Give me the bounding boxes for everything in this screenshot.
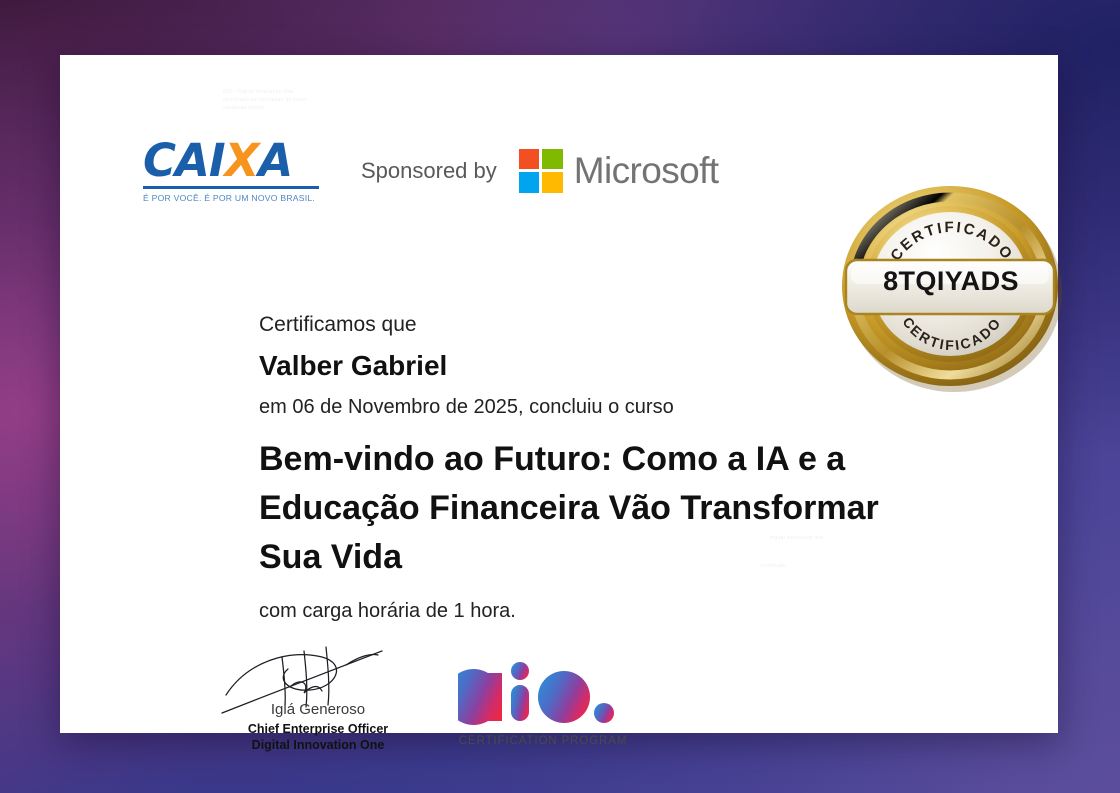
caixa-tagline: É POR VOCÊ. É POR UM NOVO BRASIL. [143, 193, 323, 203]
signature-block: Iglá Generoso Chief Enterprise Officer D… [218, 643, 418, 754]
recipient-name: Valber Gabriel [259, 350, 899, 382]
course-title: Bem-vindo ao Futuro: Como a IA e a Educa… [259, 435, 879, 582]
microsoft-square-yellow [542, 172, 563, 193]
watermark-text-top: DIO - Digital Innovation One certificado… [223, 89, 307, 112]
dio-logo-block: CERTIFICATION PROGRAM [453, 659, 633, 747]
signer-title: Chief Enterprise Officer [218, 721, 418, 737]
microsoft-logo: Microsoft [519, 149, 719, 193]
microsoft-square-red [519, 149, 540, 170]
seal-code: 8TQIYADS [826, 266, 1076, 297]
caixa-wordmark-part2: A [258, 134, 292, 187]
microsoft-squares-icon [519, 149, 563, 193]
caixa-wordmark: CAIXA [143, 138, 323, 183]
workload-line: com carga horária de 1 hora. [259, 600, 899, 623]
certificate-body: Certificamos que Valber Gabriel em 06 de… [259, 313, 899, 623]
microsoft-square-green [542, 149, 563, 170]
certify-line: Certificamos que [259, 313, 899, 337]
certificate-card: DIO - Digital Innovation One certificado… [60, 55, 1058, 733]
microsoft-square-blue [519, 172, 540, 193]
certificate-header: CAIXA É POR VOCÊ. É POR UM NOVO BRASIL. … [143, 138, 718, 203]
microsoft-wordmark: Microsoft [574, 150, 719, 192]
signer-organization: Digital Innovation One [218, 737, 418, 753]
caixa-wordmark-accent: X [225, 134, 259, 187]
dio-caption: CERTIFICATION PROGRAM [453, 735, 633, 747]
sponsor-block: Sponsored by Microsoft [361, 149, 718, 193]
caixa-wordmark-part1: CAI [143, 134, 225, 187]
caixa-logo: CAIXA É POR VOCÊ. É POR UM NOVO BRASIL. [143, 138, 323, 203]
completion-date-line: em 06 de Novembro de 2025, concluiu o cu… [259, 396, 899, 419]
dio-logo-icon [458, 659, 628, 727]
signer-name: Iglá Generoso [218, 701, 418, 718]
sponsored-by-label: Sponsored by [361, 158, 497, 184]
